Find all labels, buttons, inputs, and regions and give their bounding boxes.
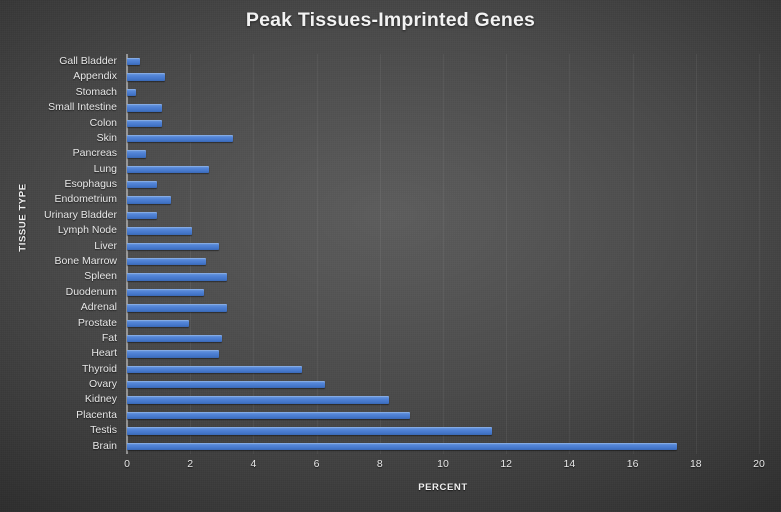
y-axis-label: Lymph Node bbox=[58, 223, 117, 238]
x-axis-tick-label: 0 bbox=[124, 458, 130, 470]
bar-row bbox=[127, 269, 759, 284]
y-axis-label: Testis bbox=[90, 423, 117, 438]
bar-row bbox=[127, 423, 759, 438]
bar[interactable] bbox=[127, 258, 206, 265]
bar[interactable] bbox=[127, 243, 219, 250]
y-axis-labels: Gall BladderAppendixStomachSmall Intesti… bbox=[0, 54, 122, 454]
bar-row bbox=[127, 85, 759, 100]
x-axis-tick-label: 12 bbox=[500, 458, 512, 470]
bar-row bbox=[127, 69, 759, 84]
x-axis-ticks: 02468101214161820 bbox=[127, 458, 759, 474]
y-axis-label: Urinary Bladder bbox=[44, 208, 117, 223]
bar-row bbox=[127, 331, 759, 346]
bar-row bbox=[127, 377, 759, 392]
y-axis-label: Liver bbox=[94, 239, 117, 254]
y-axis-label: Lung bbox=[94, 162, 117, 177]
x-axis-tick-label: 6 bbox=[314, 458, 320, 470]
y-axis-label: Adrenal bbox=[81, 300, 117, 315]
y-axis-label: Small Intestine bbox=[48, 100, 117, 115]
x-axis-tick-label: 2 bbox=[187, 458, 193, 470]
bar[interactable] bbox=[127, 273, 227, 280]
bar-row bbox=[127, 162, 759, 177]
x-axis-tick-label: 18 bbox=[690, 458, 702, 470]
y-axis-label: Prostate bbox=[78, 316, 117, 331]
bar-row bbox=[127, 177, 759, 192]
bar[interactable] bbox=[127, 443, 677, 450]
x-axis-tick-label: 10 bbox=[437, 458, 449, 470]
y-axis-label: Thyroid bbox=[82, 362, 117, 377]
bar-row bbox=[127, 208, 759, 223]
bar-row bbox=[127, 408, 759, 423]
y-axis-label: Endometrium bbox=[55, 192, 117, 207]
y-axis-label: Brain bbox=[92, 439, 117, 454]
bar[interactable] bbox=[127, 212, 157, 219]
y-axis-label: Pancreas bbox=[73, 146, 117, 161]
x-axis-tick-label: 4 bbox=[250, 458, 256, 470]
bar[interactable] bbox=[127, 73, 165, 80]
bar[interactable] bbox=[127, 304, 227, 311]
y-axis-label: Kidney bbox=[85, 392, 117, 407]
bar-row bbox=[127, 100, 759, 115]
bar-row bbox=[127, 223, 759, 238]
y-axis-label: Placenta bbox=[76, 408, 117, 423]
bar[interactable] bbox=[127, 412, 410, 419]
x-axis-tick-label: 16 bbox=[627, 458, 639, 470]
bar[interactable] bbox=[127, 89, 136, 96]
bar[interactable] bbox=[127, 104, 162, 111]
gridline-20 bbox=[759, 54, 760, 454]
y-axis-label: Stomach bbox=[76, 85, 117, 100]
y-axis-label: Appendix bbox=[73, 69, 117, 84]
y-axis-label: Ovary bbox=[89, 377, 117, 392]
bar-row bbox=[127, 316, 759, 331]
chart-container: Peak Tissues-Imprinted Genes TISSUE TYPE… bbox=[0, 0, 781, 512]
bar-row bbox=[127, 439, 759, 454]
bar[interactable] bbox=[127, 120, 162, 127]
bar-row bbox=[127, 239, 759, 254]
y-axis-label: Skin bbox=[97, 131, 117, 146]
bar-row bbox=[127, 392, 759, 407]
bar-row bbox=[127, 346, 759, 361]
bar-row bbox=[127, 285, 759, 300]
bar[interactable] bbox=[127, 289, 204, 296]
y-axis-label: Fat bbox=[102, 331, 117, 346]
bar[interactable] bbox=[127, 166, 209, 173]
bar-row bbox=[127, 362, 759, 377]
bar-row bbox=[127, 254, 759, 269]
bar-row bbox=[127, 146, 759, 161]
chart-title: Peak Tissues-Imprinted Genes bbox=[0, 9, 781, 32]
y-axis-label: Duodenum bbox=[66, 285, 117, 300]
x-axis-title: PERCENT bbox=[127, 482, 759, 493]
bar[interactable] bbox=[127, 381, 325, 388]
bar[interactable] bbox=[127, 150, 146, 157]
bar[interactable] bbox=[127, 135, 233, 142]
bar-row bbox=[127, 54, 759, 69]
y-axis-label: Esophagus bbox=[64, 177, 117, 192]
bar[interactable] bbox=[127, 181, 157, 188]
y-axis-label: Heart bbox=[91, 346, 117, 361]
bar[interactable] bbox=[127, 350, 219, 357]
y-axis-label: Colon bbox=[90, 116, 117, 131]
bar[interactable] bbox=[127, 196, 171, 203]
bar[interactable] bbox=[127, 366, 302, 373]
x-axis-tick-label: 20 bbox=[753, 458, 765, 470]
bar[interactable] bbox=[127, 320, 189, 327]
bar[interactable] bbox=[127, 227, 192, 234]
y-axis-label: Bone Marrow bbox=[55, 254, 117, 269]
x-axis-tick-label: 8 bbox=[377, 458, 383, 470]
bar-row bbox=[127, 131, 759, 146]
x-axis-tick-label: 14 bbox=[564, 458, 576, 470]
y-axis-label: Gall Bladder bbox=[59, 54, 117, 69]
plot-area bbox=[127, 54, 759, 454]
bar[interactable] bbox=[127, 335, 222, 342]
y-axis-label: Spleen bbox=[84, 269, 117, 284]
bar-row bbox=[127, 192, 759, 207]
bar[interactable] bbox=[127, 427, 492, 434]
bar[interactable] bbox=[127, 396, 389, 403]
bar-row bbox=[127, 300, 759, 315]
bar[interactable] bbox=[127, 58, 140, 65]
bar-row bbox=[127, 116, 759, 131]
